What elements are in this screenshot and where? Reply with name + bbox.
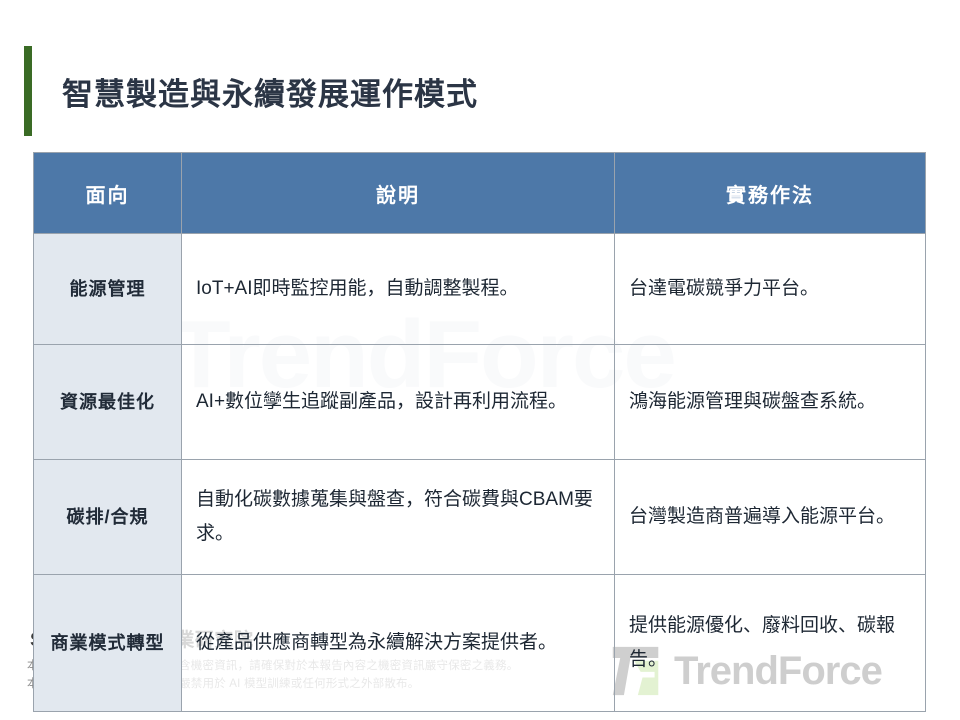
cell-aspect: 商業模式轉型 xyxy=(34,575,182,712)
cell-practice: 台灣製造商普遍導入能源平台。 xyxy=(615,460,926,575)
cell-description: AI+數位孿生追蹤副產品，設計再利用流程。 xyxy=(182,345,615,460)
cell-aspect: 能源管理 xyxy=(34,234,182,345)
cell-aspect: 資源最佳化 xyxy=(34,345,182,460)
cell-practice: 鴻海能源管理與碳盤查系統。 xyxy=(615,345,926,460)
table-row: 碳排/合規 自動化碳數據蒐集與盤查，符合碳費與CBAM要求。 台灣製造商普遍導入… xyxy=(34,460,926,575)
table-row: 資源最佳化 AI+數位孿生追蹤副產品，設計再利用流程。 鴻海能源管理與碳盤查系統… xyxy=(34,345,926,460)
cell-description: 自動化碳數據蒐集與盤查，符合碳費與CBAM要求。 xyxy=(182,460,615,575)
table-header-row: 面向 說明 實務作法 xyxy=(34,153,926,234)
operating-model-table: 面向 說明 實務作法 能源管理 IoT+AI即時監控用能，自動調整製程。 台達電… xyxy=(33,152,926,712)
table-header: 面向 說明 實務作法 xyxy=(34,153,926,234)
column-header-practice: 實務作法 xyxy=(615,153,926,234)
table-row: 能源管理 IoT+AI即時監控用能，自動調整製程。 台達電碳競爭力平台。 xyxy=(34,234,926,345)
cell-aspect: 碳排/合規 xyxy=(34,460,182,575)
cell-practice: 提供能源優化、廢料回收、碳報告。 xyxy=(615,575,926,712)
column-header-aspect: 面向 xyxy=(34,153,182,234)
cell-description: IoT+AI即時監控用能，自動調整製程。 xyxy=(182,234,615,345)
table-body: 能源管理 IoT+AI即時監控用能，自動調整製程。 台達電碳競爭力平台。 資源最… xyxy=(34,234,926,712)
page-title: 智慧製造與永續發展運作模式 xyxy=(62,69,478,114)
cell-practice: 台達電碳競爭力平台。 xyxy=(615,234,926,345)
column-header-description: 說明 xyxy=(182,153,615,234)
page-title-block: 智慧製造與永續發展運作模式 xyxy=(24,46,478,136)
cell-description: 從產品供應商轉型為永續解決方案提供者。 xyxy=(182,575,615,712)
title-accent-bar xyxy=(24,46,32,136)
table-row: 商業模式轉型 從產品供應商轉型為永續解決方案提供者。 提供能源優化、廢料回收、碳… xyxy=(34,575,926,712)
operating-model-table-wrap: 面向 說明 實務作法 能源管理 IoT+AI即時監控用能，自動調整製程。 台達電… xyxy=(33,152,925,712)
